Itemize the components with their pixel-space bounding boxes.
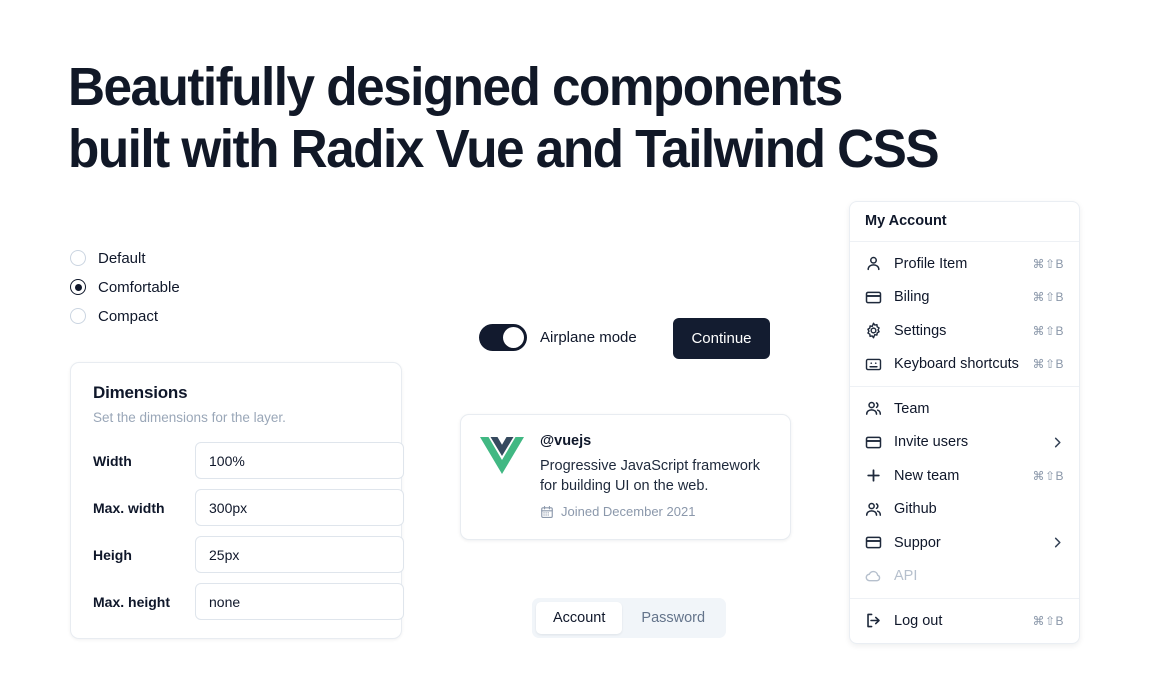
menu-item-label: Settings xyxy=(894,323,1020,339)
vue-description: Progressive JavaScript framework for bui… xyxy=(540,456,771,496)
dimension-row: Max. height xyxy=(93,583,379,620)
radio-option-default[interactable]: Default xyxy=(70,248,180,268)
tab-account[interactable]: Account xyxy=(536,602,622,634)
menu-item-shortcut: ⌘⇧B xyxy=(1032,257,1064,271)
menu-item-label: New team xyxy=(894,468,1020,484)
vue-hover-card: @vuejs Progressive JavaScript framework … xyxy=(460,414,791,540)
vue-handle: @vuejs xyxy=(540,433,771,449)
calendar-icon xyxy=(540,505,554,519)
menu-item-biling[interactable]: Biling⌘⇧B xyxy=(850,281,1079,315)
vue-logo-icon xyxy=(480,435,524,475)
radio-indicator[interactable] xyxy=(70,250,86,266)
logout-icon xyxy=(865,612,882,629)
page-title: Beautifully designed components built wi… xyxy=(68,56,980,180)
settings-tabs: AccountPassword xyxy=(532,598,726,638)
airplane-mode-label: Airplane mode xyxy=(540,329,637,346)
chevron-right-icon xyxy=(1051,536,1064,549)
dimension-label: Heigh xyxy=(93,547,195,563)
menu-item-api: API xyxy=(850,560,1079,594)
menu-item-shortcut: ⌘⇧B xyxy=(1032,357,1064,371)
dimensions-card: Dimensions Set the dimensions for the la… xyxy=(70,362,402,639)
menu-item-label: Keyboard shortcuts xyxy=(894,356,1020,372)
radio-label: Default xyxy=(98,251,146,266)
dimension-input-heigh[interactable] xyxy=(195,536,404,573)
dimension-input-width[interactable] xyxy=(195,442,404,479)
menu-group: Log out⌘⇧B xyxy=(850,599,1079,643)
joined-row: Joined December 2021 xyxy=(540,504,771,519)
menu-header-label: My Account xyxy=(850,202,1079,241)
menu-group: TeamInvite usersNew team⌘⇧BGithubSupporA… xyxy=(850,387,1079,598)
menu-item-label: Profile Item xyxy=(894,256,1020,272)
menu-item-label: Github xyxy=(894,501,1064,517)
menu-item-label: Suppor xyxy=(894,535,1039,551)
radio-indicator[interactable] xyxy=(70,279,86,295)
menu-item-new-team[interactable]: New team⌘⇧B xyxy=(850,459,1079,493)
menu-item-log-out[interactable]: Log out⌘⇧B xyxy=(850,604,1079,638)
radio-option-compact[interactable]: Compact xyxy=(70,306,180,326)
menu-item-settings[interactable]: Settings⌘⇧B xyxy=(850,314,1079,348)
menu-item-invite-users[interactable]: Invite users xyxy=(850,426,1079,460)
menu-item-github[interactable]: Github xyxy=(850,493,1079,527)
menu-item-label: Log out xyxy=(894,613,1020,629)
chevron-right-icon xyxy=(1051,436,1064,449)
cloud-icon xyxy=(865,568,882,585)
menu-item-shortcut: ⌘⇧B xyxy=(1032,614,1064,628)
users-icon xyxy=(865,400,882,417)
radio-option-comfortable[interactable]: Comfortable xyxy=(70,277,180,297)
menu-item-label: Team xyxy=(894,401,1064,417)
menu-item-shortcut: ⌘⇧B xyxy=(1032,324,1064,338)
account-dropdown-menu: My Account Profile Item⌘⇧BBiling⌘⇧BSetti… xyxy=(849,201,1080,644)
dimension-label: Max. height xyxy=(93,594,195,610)
credit-card-icon xyxy=(865,434,882,451)
menu-item-suppor[interactable]: Suppor xyxy=(850,526,1079,560)
radio-dot xyxy=(75,284,82,291)
dimension-row: Max. width xyxy=(93,489,379,526)
dimensions-subtitle: Set the dimensions for the layer. xyxy=(93,410,379,425)
credit-card-icon xyxy=(865,534,882,551)
airplane-mode-toggle[interactable] xyxy=(479,324,527,351)
dimension-label: Width xyxy=(93,453,195,469)
radio-label: Comfortable xyxy=(98,280,180,295)
dimension-row: Heigh xyxy=(93,536,379,573)
menu-item-shortcut: ⌘⇧B xyxy=(1032,290,1064,304)
continue-button[interactable]: Continue xyxy=(673,318,770,359)
menu-groups: Profile Item⌘⇧BBiling⌘⇧BSettings⌘⇧BKeybo… xyxy=(850,242,1079,643)
dimensions-field-list: WidthMax. widthHeighMax. height xyxy=(93,442,379,620)
menu-item-profile-item[interactable]: Profile Item⌘⇧B xyxy=(850,247,1079,281)
user-icon xyxy=(865,255,882,272)
dimension-input-max-height[interactable] xyxy=(195,583,404,620)
tab-password[interactable]: Password xyxy=(624,602,722,634)
keyboard-icon xyxy=(865,356,882,373)
menu-group: Profile Item⌘⇧BBiling⌘⇧BSettings⌘⇧BKeybo… xyxy=(850,242,1079,386)
menu-item-shortcut: ⌘⇧B xyxy=(1032,469,1064,483)
toggle-knob xyxy=(503,327,524,348)
dimensions-title: Dimensions xyxy=(93,383,379,403)
joined-text: Joined December 2021 xyxy=(561,504,695,519)
hero-section: Beautifully designed components built wi… xyxy=(68,56,1028,180)
menu-item-label: Biling xyxy=(894,289,1020,305)
dimension-input-max-width[interactable] xyxy=(195,489,404,526)
menu-item-keyboard-shortcuts[interactable]: Keyboard shortcuts⌘⇧B xyxy=(850,348,1079,382)
users-icon xyxy=(865,501,882,518)
credit-card-icon xyxy=(865,289,882,306)
menu-item-label: API xyxy=(894,568,1064,584)
dimension-label: Max. width xyxy=(93,500,195,516)
airplane-mode-row: Airplane mode xyxy=(479,324,637,351)
radio-label: Compact xyxy=(98,309,158,324)
plus-icon xyxy=(865,467,882,484)
radio-indicator[interactable] xyxy=(70,308,86,324)
density-radio-group: DefaultComfortableCompact xyxy=(70,248,180,326)
menu-item-team[interactable]: Team xyxy=(850,392,1079,426)
menu-item-label: Invite users xyxy=(894,434,1039,450)
gear-icon xyxy=(865,322,882,339)
dimension-row: Width xyxy=(93,442,379,479)
hover-card-body: @vuejs Progressive JavaScript framework … xyxy=(540,433,771,521)
